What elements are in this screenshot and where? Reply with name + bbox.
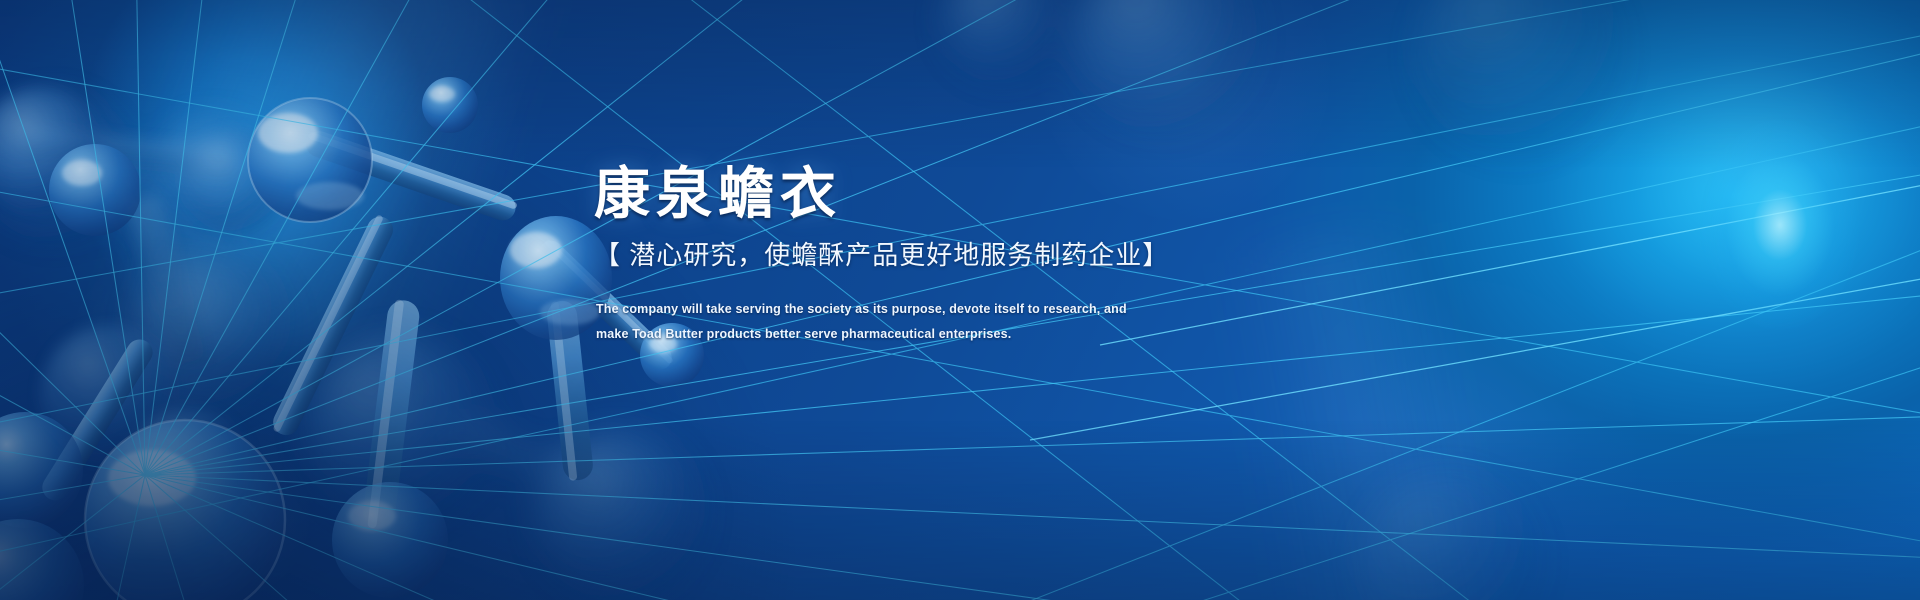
banner-title: 康泉蟾衣: [594, 165, 1494, 222]
description-line-1: The company will take serving the societ…: [596, 297, 1494, 321]
description-line-2: make Toad Butter products better serve p…: [596, 322, 1494, 346]
hero-banner: 康泉蟾衣 【 潜心研究，使蟾酥产品更好地服务制药企业】 The company …: [0, 0, 1920, 600]
banner-subtitle: 【 潜心研究，使蟾酥产品更好地服务制药企业】: [594, 240, 1494, 271]
banner-description: The company will take serving the societ…: [596, 297, 1494, 346]
banner-copy: 康泉蟾衣 【 潜心研究，使蟾酥产品更好地服务制药企业】 The company …: [594, 165, 1494, 346]
